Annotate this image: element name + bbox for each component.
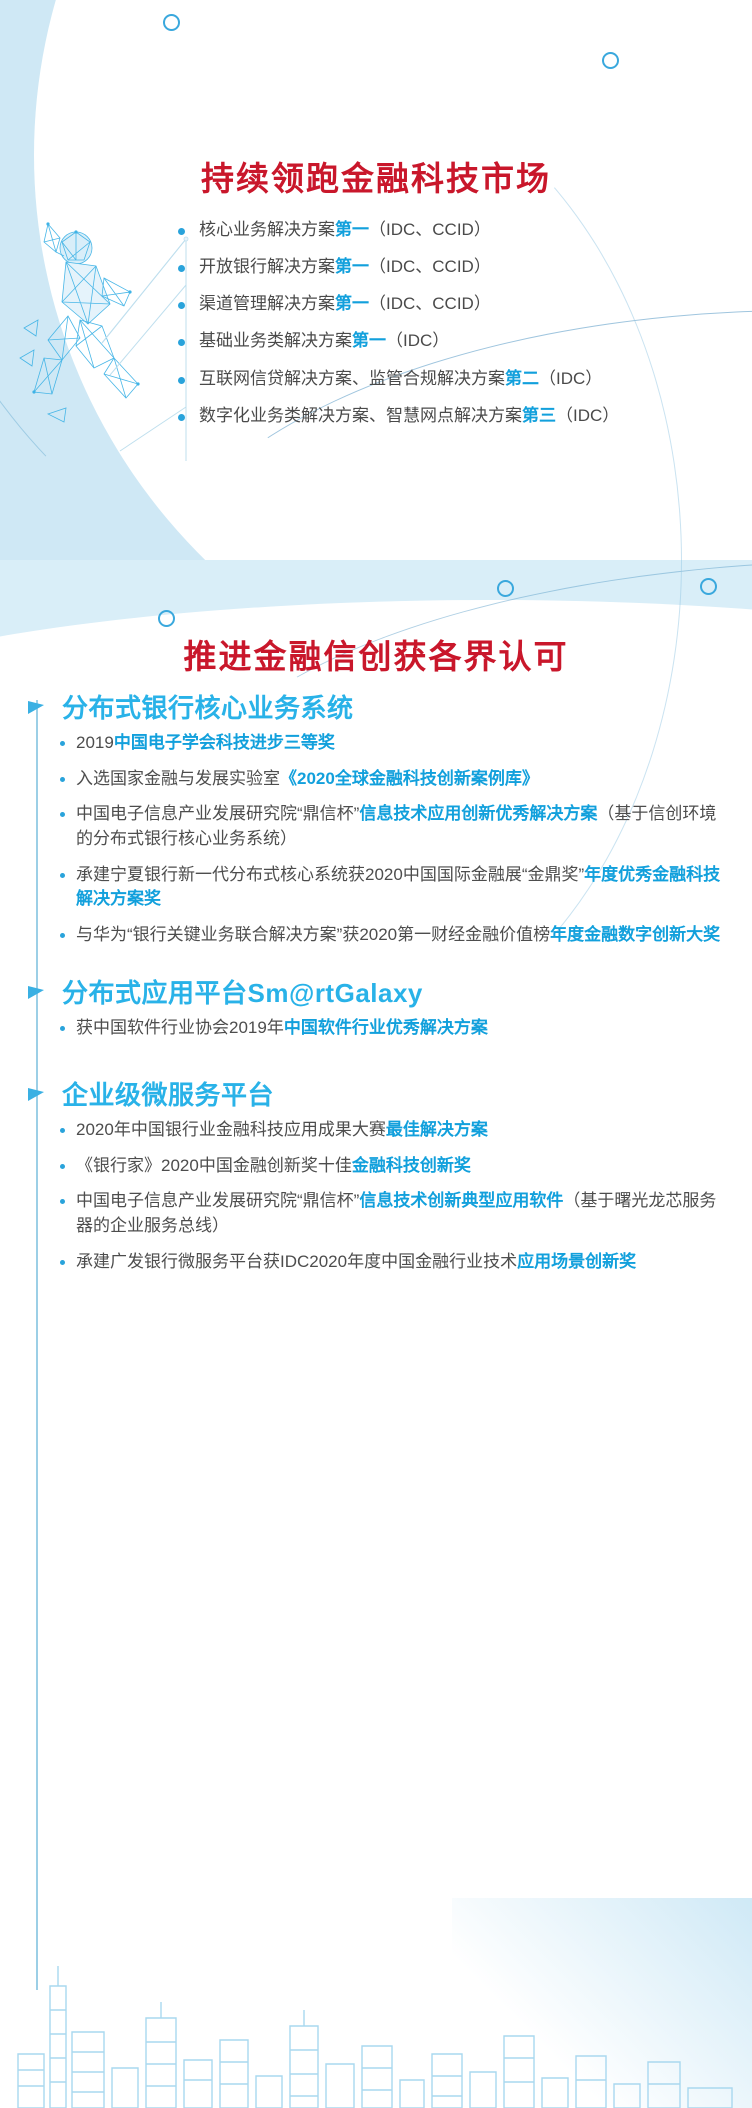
bullet-dot-icon (60, 1164, 65, 1169)
bullet-dot-icon (178, 302, 185, 309)
item-part: 《银行家》2020中国金融创新奖十佳 (76, 1156, 352, 1175)
bullet-dot-icon (60, 741, 65, 746)
bullet-dot-icon (178, 414, 185, 421)
list-item: 《银行家》2020中国金融创新奖十佳金融科技创新奖 (60, 1154, 722, 1179)
group-item-list: 获中国软件行业协会2019年中国软件行业优秀解决方案 (0, 1016, 752, 1041)
rank-value: 第一 (335, 220, 369, 239)
award-group: 分布式应用平台Sm@rtGalaxy 获中国软件行业协会2019年中国软件行业优… (0, 973, 752, 1041)
item-part: 2020年中国银行业金融科技应用成果大赛 (76, 1120, 386, 1139)
item-part: 承建广发银行微服务平台获IDC2020年度中国金融行业技术 (76, 1252, 517, 1271)
rank-lead: 渠道管理解决方案 (199, 294, 335, 313)
item-highlight: 中国电子学会科技进步三等奖 (114, 733, 335, 752)
item-part: 入选国家金融与发展实验室 (76, 769, 280, 788)
list-item: 中国电子信息产业发展研究院“鼎信杯”信息技术应用创新优秀解决方案（基于信创环境的… (60, 802, 722, 851)
item-part: 获中国软件行业协会2019年 (76, 1018, 284, 1037)
item-highlight: 年度金融数字创新大奖 (550, 925, 720, 944)
bullet-dot-icon (60, 873, 65, 878)
list-item: 核心业务解决方案第一（IDC、CCID） (178, 218, 718, 242)
flag-marker-icon (28, 986, 44, 999)
award-group: 分布式银行核心业务系统 2019中国电子学会科技进步三等奖 入选国家金融与发展实… (0, 688, 752, 947)
city-skyline-silhouette (0, 1958, 752, 2108)
group-item-list: 2020年中国银行业金融科技应用成果大赛最佳解决方案 《银行家》2020中国金融… (0, 1118, 752, 1274)
item-highlight: 信息技术创新典型应用软件 (359, 1191, 563, 1210)
group-header: 分布式银行核心业务系统 (0, 688, 752, 725)
award-groups: 分布式银行核心业务系统 2019中国电子学会科技进步三等奖 入选国家金融与发展实… (0, 688, 752, 1292)
rank-source: （IDC） (386, 331, 449, 350)
bullet-dot-icon (60, 777, 65, 782)
bullet-dot-icon (60, 1199, 65, 1204)
rank-lead: 互联网信贷解决方案、监管合规解决方案 (199, 369, 505, 388)
group-title: 分布式应用平台Sm@rtGalaxy (62, 973, 423, 1010)
list-item: 中国电子信息产业发展研究院“鼎信杯”信息技术创新典型应用软件（基于曙光龙芯服务器… (60, 1189, 722, 1238)
flag-marker-icon (28, 701, 44, 714)
section-market-leadership: 持续领跑金融科技市场 (0, 0, 752, 620)
bullet-dot-icon (178, 339, 185, 346)
item-highlight: 《2020全球金融科技创新案例库》 (280, 769, 539, 788)
group-title: 分布式银行核心业务系统 (62, 688, 354, 725)
bullet-dot-icon (60, 1260, 65, 1265)
group-header: 分布式应用平台Sm@rtGalaxy (0, 973, 752, 1010)
item-highlight: 应用场景创新奖 (517, 1252, 636, 1271)
rank-value: 第二 (505, 369, 539, 388)
item-highlight: 信息技术应用创新优秀解决方案 (359, 804, 597, 823)
list-item: 2020年中国银行业金融科技应用成果大赛最佳解决方案 (60, 1118, 722, 1143)
item-part: 承建宁夏银行新一代分布式核心系统获2020中国国际金融展“金鼎奖” (76, 865, 584, 884)
list-item: 2019中国电子学会科技进步三等奖 (60, 731, 722, 756)
item-highlight: 中国软件行业优秀解决方案 (284, 1018, 488, 1037)
list-item: 数字化业务类解决方案、智慧网点解决方案第三（IDC） (178, 404, 718, 428)
list-item: 基础业务类解决方案第一（IDC） (178, 329, 718, 353)
group-title: 企业级微服务平台 (62, 1075, 274, 1112)
flag-marker-icon (28, 1088, 44, 1101)
item-part: 中国电子信息产业发展研究院“鼎信杯” (76, 1191, 359, 1210)
rank-value: 第一 (335, 294, 369, 313)
section-one-title: 持续领跑金融科技市场 (0, 152, 752, 200)
award-group: 企业级微服务平台 2020年中国银行业金融科技应用成果大赛最佳解决方案 《银行家… (0, 1075, 752, 1274)
item-highlight: 最佳解决方案 (386, 1120, 488, 1139)
list-item: 承建广发银行微服务平台获IDC2020年度中国金融行业技术应用场景创新奖 (60, 1250, 722, 1275)
rank-source: （IDC、CCID） (369, 220, 491, 239)
item-part: 中国电子信息产业发展研究院“鼎信杯” (76, 804, 359, 823)
list-item: 互联网信贷解决方案、监管合规解决方案第二（IDC） (178, 367, 718, 391)
item-part: 2019 (76, 733, 114, 752)
rank-lead: 数字化业务类解决方案、智慧网点解决方案 (199, 406, 522, 425)
rank-source: （IDC） (539, 369, 602, 388)
bullet-dot-icon (60, 812, 65, 817)
list-item: 入选国家金融与发展实验室《2020全球金融科技创新案例库》 (60, 767, 722, 792)
item-part: 与华为“银行关键业务联合解决方案”获2020第一财经金融价值榜 (76, 925, 550, 944)
rank-source: （IDC、CCID） (369, 257, 491, 276)
list-item: 获中国软件行业协会2019年中国软件行业优秀解决方案 (60, 1016, 722, 1041)
bullet-dot-icon (60, 1128, 65, 1133)
group-item-list: 2019中国电子学会科技进步三等奖 入选国家金融与发展实验室《2020全球金融科… (0, 731, 752, 947)
rank-source: （IDC） (556, 406, 619, 425)
rank-source: （IDC、CCID） (369, 294, 491, 313)
rank-lead: 开放银行解决方案 (199, 257, 335, 276)
bullet-dot-icon (178, 265, 185, 272)
rank-value: 第一 (352, 331, 386, 350)
bullet-dot-icon (60, 933, 65, 938)
bullet-dot-icon (178, 228, 185, 235)
bullet-dot-icon (60, 1026, 65, 1031)
rank-value: 第三 (522, 406, 556, 425)
list-item: 与华为“银行关键业务联合解决方案”获2020第一财经金融价值榜年度金融数字创新大… (60, 923, 722, 948)
list-item: 承建宁夏银行新一代分布式核心系统获2020中国国际金融展“金鼎奖”年度优秀金融科… (60, 863, 722, 912)
bullet-dot-icon (178, 377, 185, 384)
group-header: 企业级微服务平台 (0, 1075, 752, 1112)
rank-lead: 核心业务解决方案 (199, 220, 335, 239)
section-two-title: 推进金融信创获各界认可 (0, 630, 752, 678)
list-item: 开放银行解决方案第一（IDC、CCID） (178, 255, 718, 279)
poster-root: 持续领跑金融科技市场 (0, 0, 752, 2108)
rank-value: 第一 (335, 257, 369, 276)
list-item: 渠道管理解决方案第一（IDC、CCID） (178, 292, 718, 316)
market-rank-list: 核心业务解决方案第一（IDC、CCID） 开放银行解决方案第一（IDC、CCID… (178, 218, 718, 441)
item-highlight: 金融科技创新奖 (352, 1156, 471, 1175)
rank-lead: 基础业务类解决方案 (199, 331, 352, 350)
